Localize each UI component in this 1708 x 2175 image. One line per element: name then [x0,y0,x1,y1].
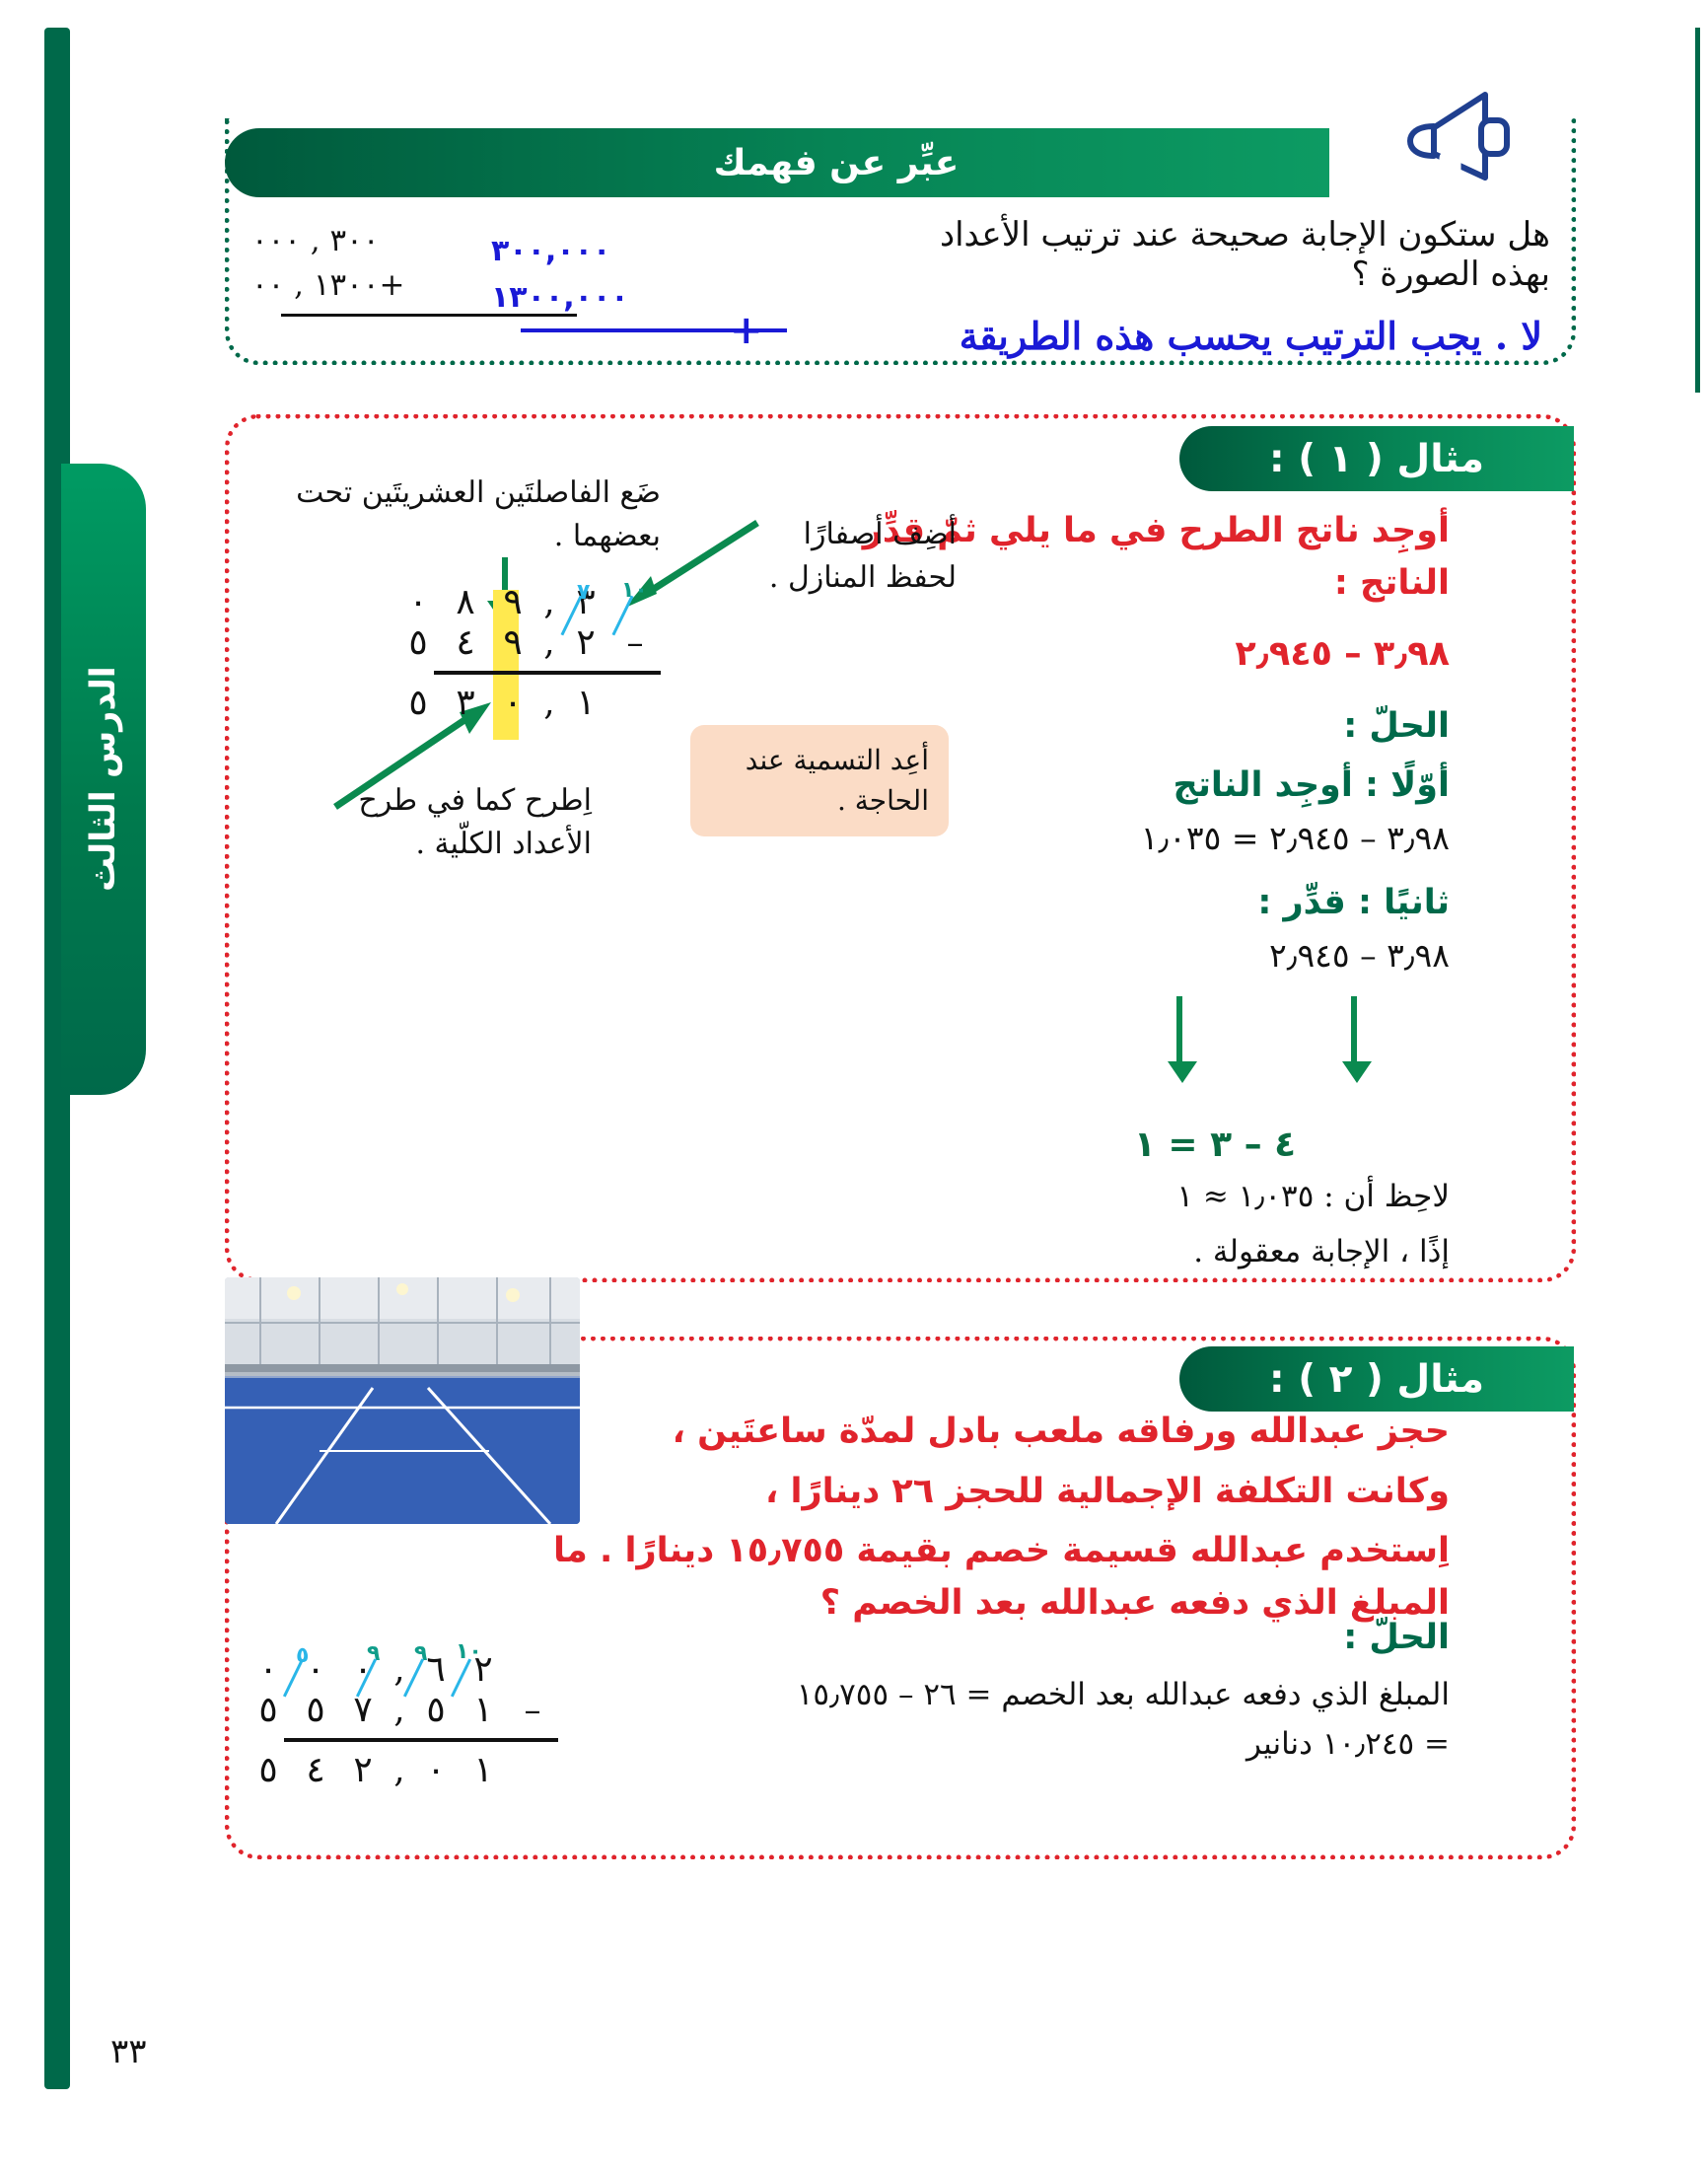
express-understanding-banner: عبِّر عن فهمك [225,128,1329,197]
example2-problem-line2: وكانت التكلفة الإجمالية للحجز ٢٦ دينارًا… [463,1466,1450,1518]
page-number: ٣٣ [110,2032,147,2071]
example1-subtrahend-row: – ٢ , ٩ ٤ ٥ [394,622,661,663]
subtrahend-digit-2: ٤ [442,622,489,663]
express-question-text: هل ستكون الإجابة صحيحة عند ترتيب الأعداد… [899,215,1550,294]
ex2-subtrahend-digit-2: ٧ [339,1690,387,1730]
megaphone-icon [1390,87,1519,190]
ex2-difference-digit-0: ١ [460,1750,507,1790]
difference-comma: , [536,683,562,723]
difference-digit-2: ٣ [442,683,489,723]
difference-digit-3: ٥ [394,683,442,723]
example2-problem-line1: حجز عبدالله ورفاقه ملعب بادل لمدّة ساعتَ… [463,1406,1450,1458]
example2-solution-block: الحلّ : المبلغ الذي دفعه عبدالله بعد الخ… [661,1618,1450,1762]
example2-difference-row: ١ ٠ , ٢ ٤ ٥ [245,1750,558,1790]
minuend-comma: , [536,582,562,622]
example2-problem-text: حجز عبدالله ورفاقه ملعب بادل لمدّة ساعتَ… [463,1406,1450,1629]
example2-vertical-subtraction: ٢ ٦ , ٠ ٠ ٠ – ١ ٥ , ٧ ٥ ٥ ١ ٠ , ٢ ٤ ٥ [245,1649,558,1790]
difference-digit-1: ٠ [489,683,536,723]
example1-expression: ٣٫٩٨ – ٢٫٩٤٥ [799,628,1450,681]
example2-operator: – [507,1691,558,1730]
ex2-difference-digit-2: ٢ [339,1750,387,1790]
example1-subtraction-bar [434,671,661,675]
handwritten-sum-line1: ٣٠٠,٠٠٠ [491,229,787,275]
minuend-digit-3: ٠ [394,582,442,622]
ex2-difference-digit-1: ٠ [412,1750,460,1790]
example1-second-label: ثانيًا : قدِّر : [799,883,1450,922]
handwritten-answer-text: لا . يجب الترتيب يحسب هذه الطريقة [960,314,1542,358]
example1-conclusion: إذًا ، الإجابة معقولة . [799,1234,1450,1269]
example2-solution-label: الحلّ : [661,1618,1450,1657]
minuend-digit-2: ٨ [442,582,489,622]
ex2-difference-digit-4: ٥ [245,1750,292,1790]
ex2-subtrahend-digit-0: ١ [460,1690,507,1730]
example2-subtraction-bar [284,1738,558,1742]
lesson-side-tab-label: الدرس الثالث [61,464,146,1095]
example1-regroup-callout: أعِد التسمية عند الحاجة . [690,725,949,836]
ex2-difference-digit-3: ٤ [292,1750,339,1790]
example1-borrow-mark-1: ١٠ [621,578,648,603]
express-banner-title: عبِّر عن فهمك [714,143,960,183]
ex2-difference-comma: , [387,1750,412,1790]
right-edge-rule [1695,28,1700,393]
difference-digit-0: ١ [562,683,609,723]
ex2-subtrahend-digit-3: ٥ [292,1690,339,1730]
example2-subtrahend-row: – ١ ٥ , ٧ ٥ ٥ [245,1690,558,1730]
example1-estimate-equation: ٤ – ٣ = ١ [1008,1124,1422,1165]
subtrahend-comma: , [536,622,562,663]
ex2-subtrahend-comma: , [387,1690,412,1730]
minuend-digit-1: ٩ [489,582,536,622]
printed-sum-line2: ١٣٠٠ , ٠٠ [251,267,379,303]
subtrahend-digit-3: ٥ [394,622,442,663]
example2-solution-line2: = ١٠٫٢٤٥ دنانير [661,1726,1450,1762]
example1-observation: لاحِظ أن : ١٫٠٣٥ ≈ ١ [799,1179,1450,1214]
handwritten-operator: + [730,308,763,353]
example1-difference-row: ١ , ٠ ٣ ٥ [394,683,661,723]
ex2-minuend-digit-4: ٠ [245,1649,292,1690]
subtrahend-digit-0: ٢ [562,622,609,663]
lesson-side-tab: الدرس الثالث [61,464,146,1095]
subtrahend-digit-1: ٩ [489,622,536,663]
example1-observation-block: لاحِظ أن : ١٫٠٣٥ ≈ ١ إذًا ، الإجابة معقو… [799,1179,1450,1269]
example1-vertical-subtraction: ٣ , ٩ ٨ ٠ – ٢ , ٩ ٤ ٥ ١ , ٠ ٣ ٥ [394,582,661,723]
printed-sum-operator: + [379,263,408,308]
example2-solution-line1: المبلغ الذي دفعه عبدالله بعد الخصم = ٢٦ … [661,1677,1450,1712]
example1-heading: مثال ( ١ ) : [1179,426,1574,491]
example1-estimate-arrows [1008,996,1422,1115]
example1-second-expression: ٣٫٩٨ – ٢٫٩٤٥ [799,936,1450,975]
example2-problem-line3: اِستخدم عبدالله قسيمة خصم بقيمة ١٥٫٧٥٥ د… [463,1525,1450,1629]
example2-heading: مثال ( ٢ ) : [1179,1346,1574,1412]
